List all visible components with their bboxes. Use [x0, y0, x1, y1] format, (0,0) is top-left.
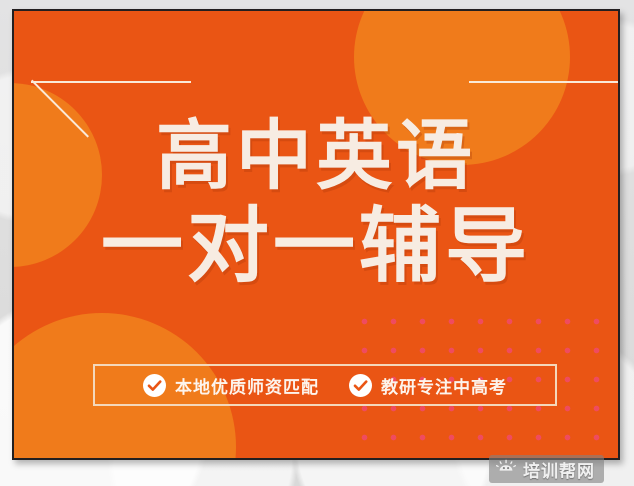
feature-label-1: 本地优质师资匹配	[175, 373, 319, 398]
feature-label-2: 教研专注中高考	[381, 373, 507, 398]
decorative-circle-top-right	[354, 11, 570, 165]
watermark: 培训帮网	[489, 455, 604, 483]
decorative-diagonal-top-left	[31, 80, 89, 138]
feature-badge-bar: 本地优质师资匹配 教研专注中高考	[93, 364, 557, 406]
decorative-circle-top-left	[14, 83, 102, 267]
sun-face-icon	[496, 459, 516, 479]
check-circle-icon	[143, 374, 166, 397]
headline-line-2: 一对一辅导	[14, 205, 618, 289]
headline-line-1: 高中英语	[14, 117, 618, 195]
decorative-rule-top-right	[469, 81, 618, 83]
feature-item-1: 本地优质师资匹配	[143, 373, 319, 398]
watermark-label: 培训帮网	[523, 457, 595, 482]
headline-block: 高中英语 一对一辅导	[14, 117, 618, 288]
poster-canvas: 高中英语 一对一辅导 本地优质师资匹配	[14, 11, 618, 458]
decorative-rule-top-left	[31, 81, 191, 83]
poster-frame: 高中英语 一对一辅导 本地优质师资匹配	[12, 9, 620, 460]
feature-item-2: 教研专注中高考	[349, 373, 507, 398]
check-circle-icon	[349, 374, 372, 397]
page-background: 高中英语 一对一辅导 本地优质师资匹配	[0, 0, 634, 486]
